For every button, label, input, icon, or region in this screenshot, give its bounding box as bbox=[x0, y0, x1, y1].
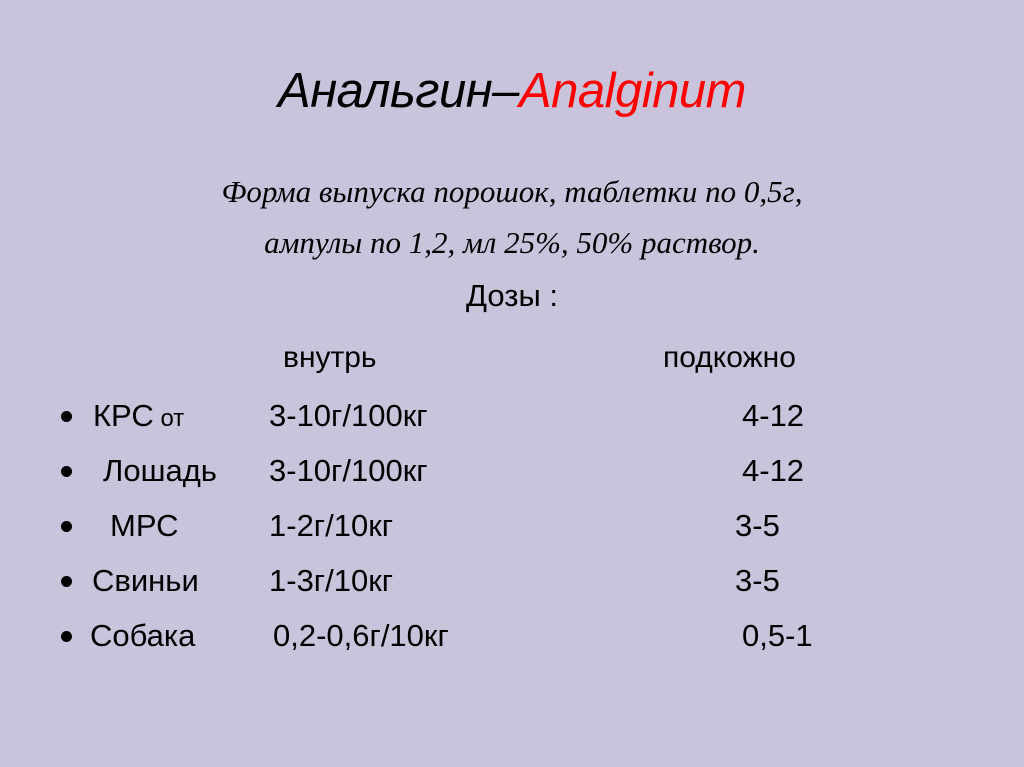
table-row: МРС 1-2г/10кг 3-5 bbox=[0, 498, 1024, 553]
page-title: Анальгин–Analginum bbox=[0, 66, 1024, 117]
row-animal: КРС от bbox=[93, 388, 184, 446]
row-dose-inner: 3-10г/100кг bbox=[269, 443, 428, 498]
row-dose-subcutaneous: 0,5-1 bbox=[742, 608, 813, 663]
row-dose-subcutaneous: 4-12 bbox=[742, 388, 804, 443]
slide: Анальгин–Analginum Форма выпуска порошок… bbox=[0, 0, 1024, 767]
row-dose-inner: 1-2г/10кг bbox=[269, 498, 393, 553]
column-header-inner: внутрь bbox=[283, 338, 377, 378]
bullet-icon bbox=[61, 631, 72, 642]
title-cyrillic: Анальгин bbox=[278, 64, 492, 118]
row-animal: Лошадь bbox=[103, 443, 217, 501]
row-animal-name: Лошадь bbox=[103, 453, 217, 488]
row-animal: МРС bbox=[110, 498, 179, 556]
table-row: Лошадь 3-10г/100кг 4-12 bbox=[0, 443, 1024, 498]
row-animal-suffix: от bbox=[154, 405, 184, 432]
row-dose-inner: 0,2-0,6г/10кг bbox=[273, 608, 449, 663]
row-animal-name: Собака bbox=[90, 618, 195, 653]
title-separator: – bbox=[492, 64, 519, 118]
row-dose-subcutaneous: 3-5 bbox=[735, 553, 780, 608]
bullet-icon bbox=[61, 576, 72, 587]
row-animal-name: МРС bbox=[110, 508, 179, 543]
row-dose-subcutaneous: 4-12 bbox=[742, 443, 804, 498]
dosage-form-line-2: ампулы по 1,2, мл 25%, 50% раствор. bbox=[0, 217, 1024, 268]
dosage-form-line-1: Форма выпуска порошок, таблетки по 0,5г, bbox=[0, 166, 1024, 217]
table-row: КРС от 3-10г/100кг 4-12 bbox=[0, 388, 1024, 443]
row-dose-subcutaneous: 3-5 bbox=[735, 498, 780, 553]
row-dose-inner: 1-3г/10кг bbox=[269, 553, 393, 608]
dose-table-header: внутрь подкожно bbox=[0, 338, 1024, 378]
title-latin: Analginum bbox=[519, 64, 746, 118]
bullet-icon bbox=[61, 411, 72, 422]
table-row: Свиньи 1-3г/10кг 3-5 bbox=[0, 553, 1024, 608]
bullet-icon bbox=[61, 466, 72, 477]
row-animal: Собака bbox=[90, 608, 195, 666]
column-header-subcutaneous: подкожно bbox=[663, 338, 796, 378]
row-animal: Свиньи bbox=[92, 553, 199, 611]
row-animal-name: КРС bbox=[93, 398, 154, 433]
row-dose-inner: 3-10г/100кг bbox=[269, 388, 428, 443]
bullet-icon bbox=[61, 521, 72, 532]
dose-table-body: КРС от 3-10г/100кг 4-12 Лошадь 3-10г/100… bbox=[0, 388, 1024, 663]
dosage-form-block: Форма выпуска порошок, таблетки по 0,5г,… bbox=[0, 166, 1024, 268]
table-row: Собака 0,2-0,6г/10кг 0,5-1 bbox=[0, 608, 1024, 663]
row-animal-name: Свиньи bbox=[92, 563, 199, 598]
doses-heading: Дозы : bbox=[0, 274, 1024, 318]
